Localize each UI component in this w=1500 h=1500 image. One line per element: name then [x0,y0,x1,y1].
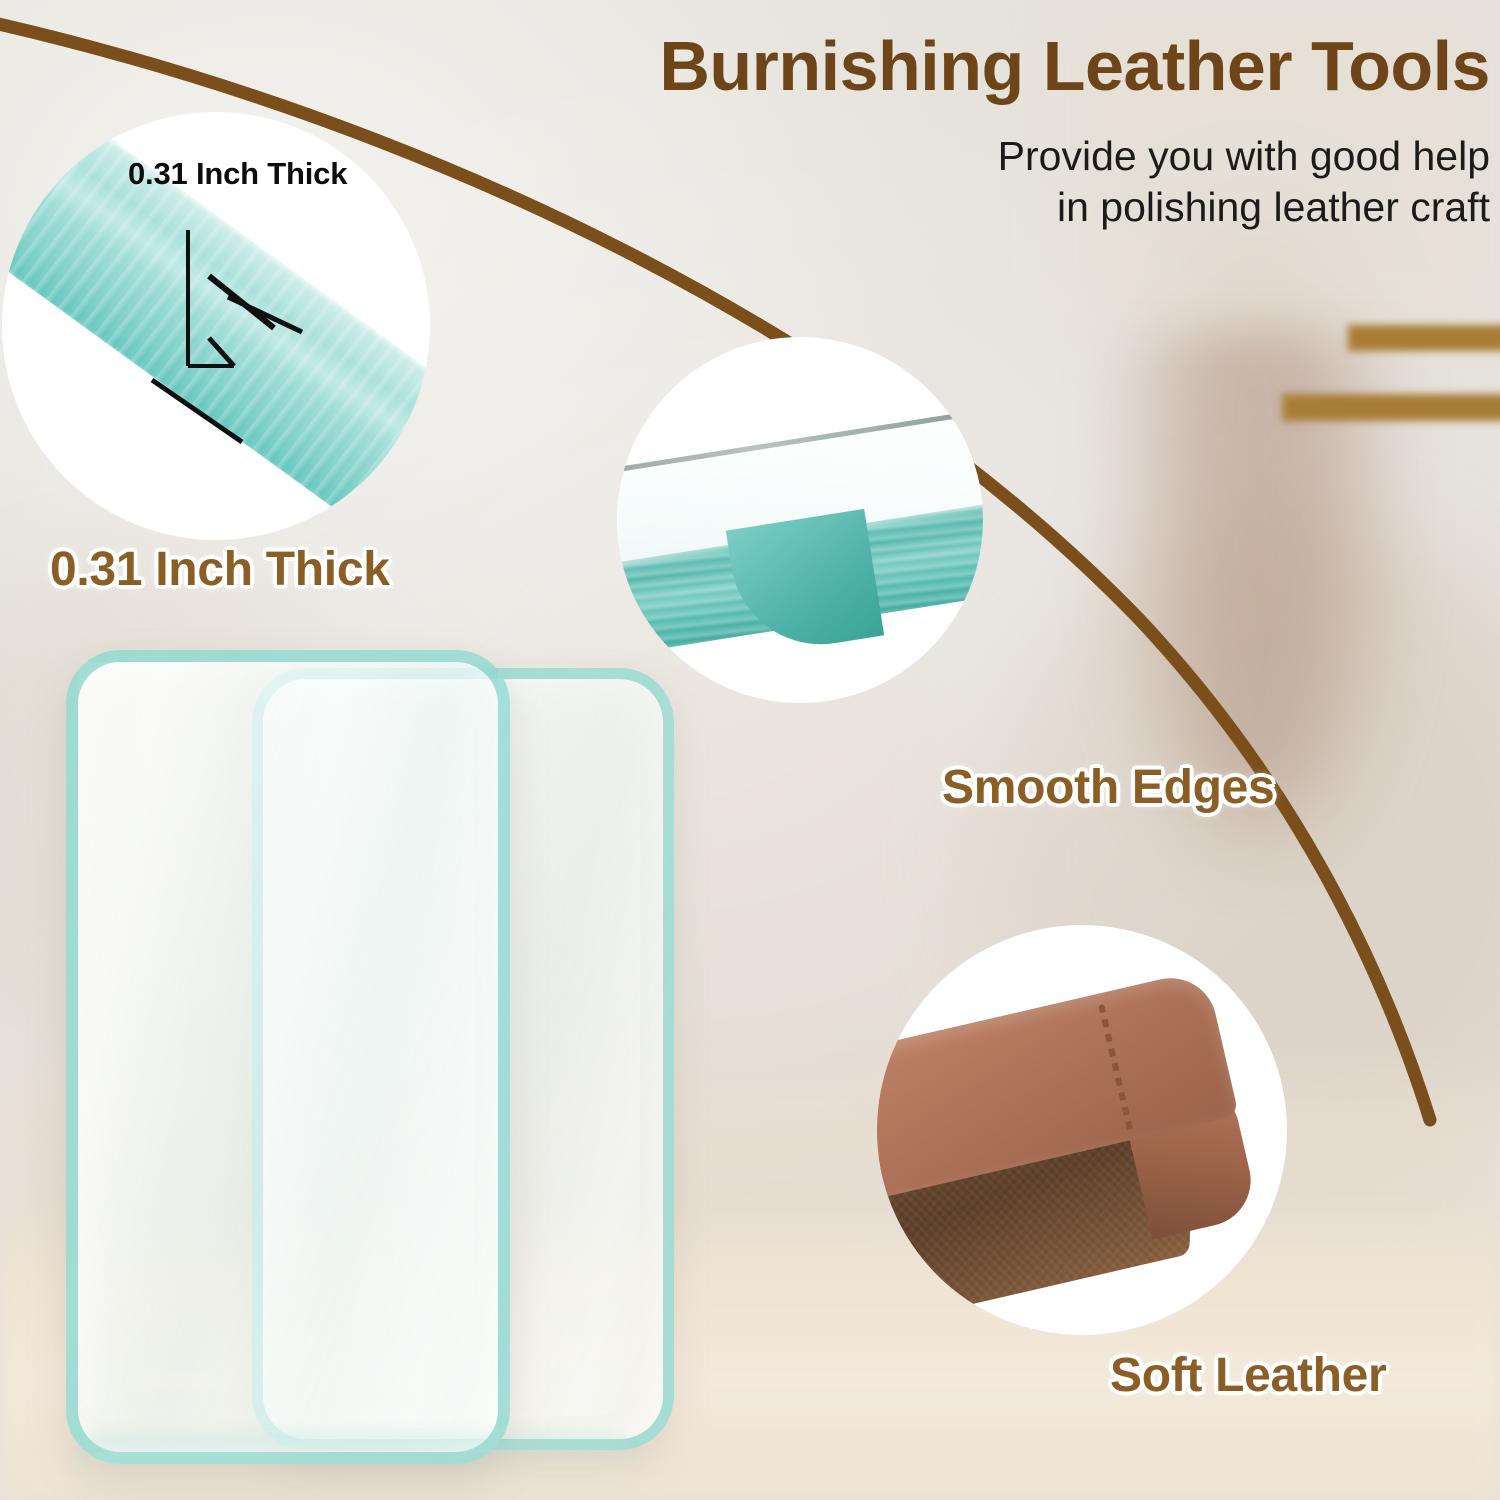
callout-soft-leather [877,925,1287,1335]
page-subtitle: Provide you with good help in polishing … [560,131,1490,233]
callout-thickness: 0.31 Inch Thick [2,112,430,540]
glass-rounded-corner [726,509,884,657]
glass-slab-front [66,650,510,1464]
callout-smooth-edges [617,337,983,703]
feature-label-thickness: 0.31 Inch Thick [50,542,390,597]
page-title: Burnishing Leather Tools [560,30,1490,103]
thickness-inset-label: 0.31 Inch Thick [128,156,347,192]
callout-soft-leather-image [877,925,1287,1335]
subtitle-line-2: in polishing leather craft [1057,184,1490,230]
product-infographic: Burnishing Leather Tools Provide you wit… [0,0,1500,1500]
glass-slab-reflection [74,1432,634,1496]
feature-label-soft-leather: Soft Leather [1110,1348,1386,1403]
subtitle-line-1: Provide you with good help [998,133,1490,179]
callout-smooth-edges-image [617,337,983,703]
callout-thickness-image: 0.31 Inch Thick [2,112,430,540]
headline-block: Burnishing Leather Tools Provide you wit… [560,30,1490,232]
feature-label-smooth-edges: Smooth Edges [942,760,1274,815]
